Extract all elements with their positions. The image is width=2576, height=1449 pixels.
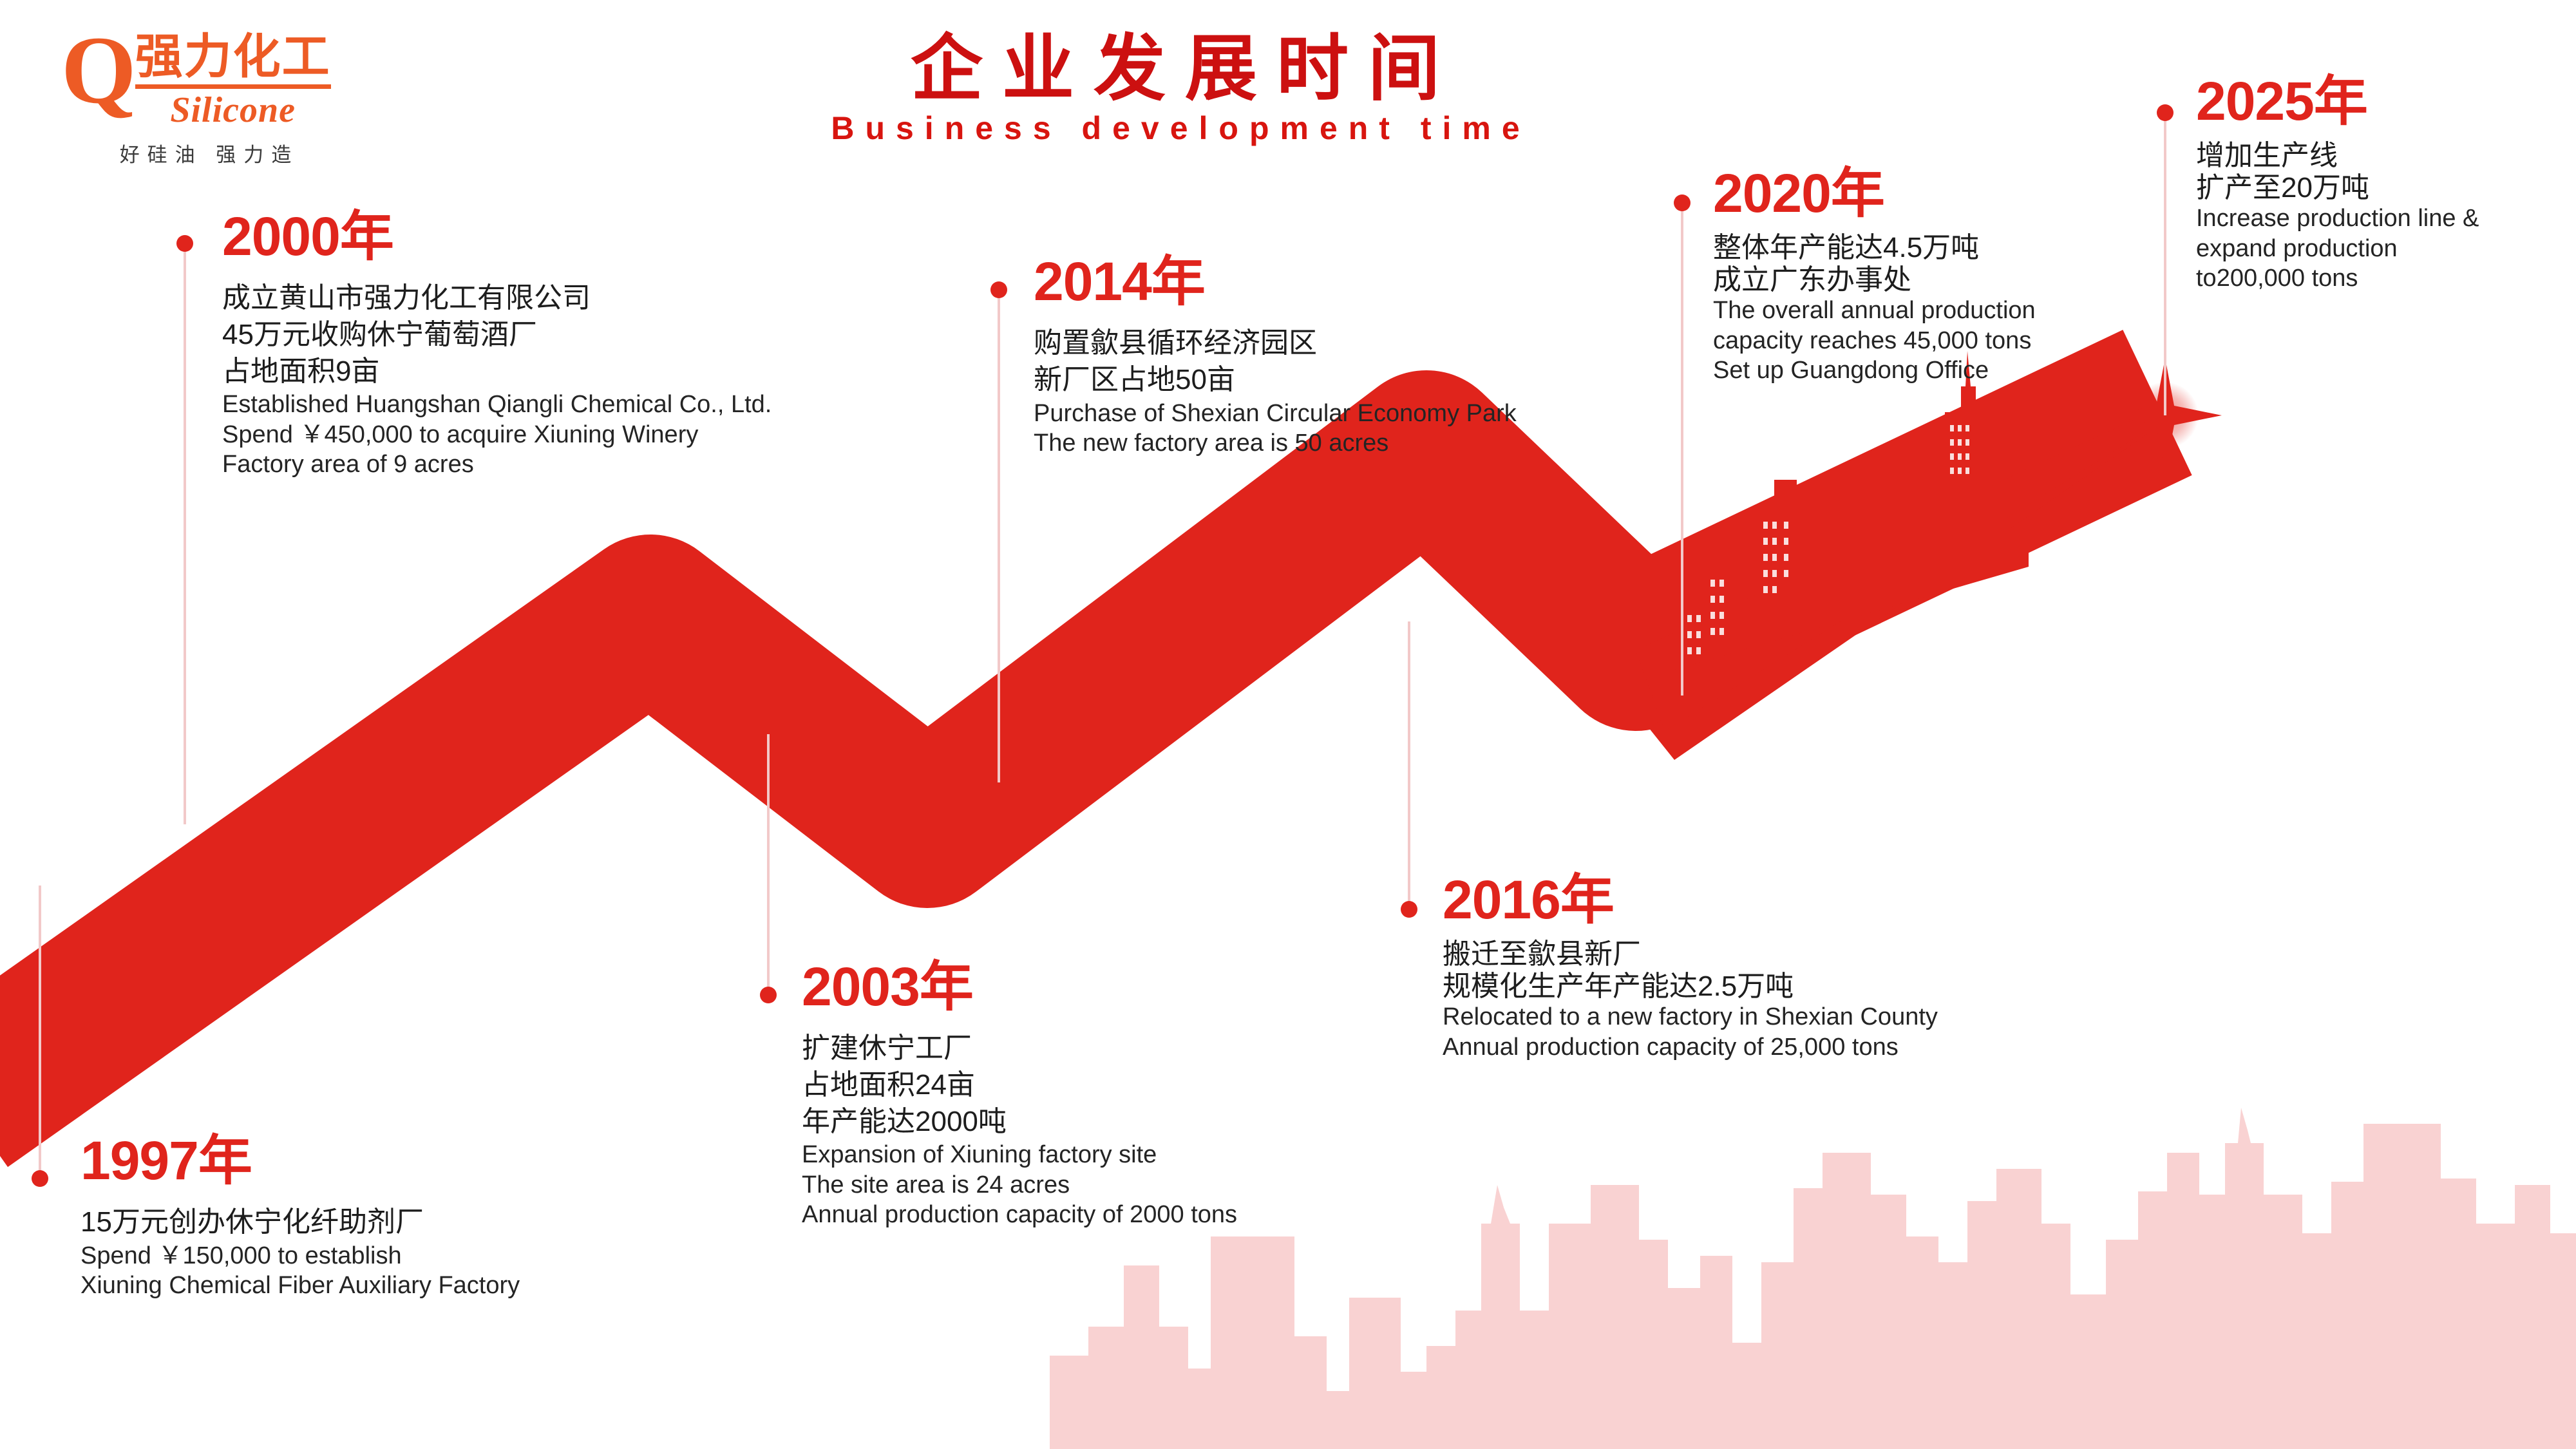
entry-en-line: Spend ￥450,000 to acquire Xiuning Winery — [222, 420, 772, 450]
timeline-entry-2016[interactable]: 2016年 搬迁至歙县新厂 规模化生产年产能达2.5万吨 Relocated t… — [1443, 873, 1938, 1062]
logo-silicone-script: Silicone — [135, 91, 331, 129]
entry-en-line: The new factory area is 50 acres — [1034, 428, 1517, 458]
entry-cn-line: 新厂区占地50亩 — [1034, 362, 1517, 399]
timeline-year-2020: 2020年 — [1713, 166, 2036, 220]
entry-cn-line: 占地面积24亩 — [802, 1067, 1237, 1104]
timeline-year-2016: 2016年 — [1443, 873, 1938, 927]
entry-en-line: Annual production capacity of 2000 tons — [802, 1200, 1237, 1229]
entry-en-line: The site area is 24 acres — [802, 1170, 1237, 1200]
entry-cn-line: 成立广东办事处 — [1713, 264, 2036, 296]
entry-en-line: Set up Guangdong Office — [1713, 355, 2036, 385]
timeline-dot-2014[interactable] — [990, 281, 1007, 298]
timeline-entry-2025[interactable]: 2025年 增加生产线 扩产至20万吨 Increase production … — [2196, 74, 2479, 294]
timeline-year-2014: 2014年 — [1034, 254, 1517, 308]
timeline-dot-2025[interactable] — [2157, 104, 2173, 121]
entry-en-line: The overall annual production — [1713, 296, 2036, 325]
entry-cn-line: 占地面积9亩 — [222, 354, 772, 390]
entry-cn-line: 成立黄山市强力化工有限公司 — [222, 280, 772, 317]
logo-company-name-cn: 强力化工 — [135, 33, 331, 89]
pink-city-skyline — [1050, 1108, 2576, 1449]
timeline-entry-2003[interactable]: 2003年 扩建休宁工厂 占地面积24亩 年产能达2000吨 Expansion… — [802, 960, 1237, 1229]
entry-cn-line: 年产能达2000吨 — [802, 1104, 1237, 1141]
entry-en-line: capacity reaches 45,000 tons — [1713, 326, 2036, 355]
entry-en-line: to200,000 tons — [2196, 263, 2479, 293]
entry-cn-line: 整体年产能达4.5万吨 — [1713, 232, 2036, 264]
entry-cn-line: 规模化生产年产能达2.5万吨 — [1443, 971, 1938, 1003]
entry-en-line: Increase production line & — [2196, 204, 2479, 233]
entry-cn-line: 扩产至20万吨 — [2196, 172, 2479, 204]
logo-tagline: 好硅油 强力造 — [61, 138, 357, 167]
entry-en-line: Annual production capacity of 25,000 ton… — [1443, 1032, 1938, 1062]
entry-en-line: Expansion of Xiuning factory site — [802, 1140, 1237, 1170]
entry-cn-line: 搬迁至歙县新厂 — [1443, 938, 1938, 971]
timeline-dot-2016[interactable] — [1401, 901, 1417, 918]
timeline-entry-1997[interactable]: 1997年 15万元创办休宁化纤助剂厂 Spend ￥150,000 to es… — [80, 1133, 520, 1300]
timeline-year-2025: 2025年 — [2196, 74, 2479, 128]
timeline-year-2003: 2003年 — [802, 960, 1237, 1014]
page-title-en: Business development time — [741, 111, 1610, 146]
timeline-year-2000: 2000年 — [222, 209, 772, 263]
logo-q-mark: Q — [61, 29, 131, 112]
company-logo: Q 强力化工 Silicone 好硅油 强力造 — [61, 29, 357, 167]
entry-cn-line: 45万元收购休宁葡萄酒厂 — [222, 317, 772, 354]
entry-cn-line: 购置歙县循环经济园区 — [1034, 325, 1517, 362]
entry-en-line: expand production — [2196, 234, 2479, 263]
entry-cn-line: 扩建休宁工厂 — [802, 1030, 1237, 1067]
entry-en-line: Factory area of 9 acres — [222, 450, 772, 479]
page-title: 企业发展时间 Business development time — [741, 31, 1610, 146]
entry-en-line: Purchase of Shexian Circular Economy Par… — [1034, 399, 1517, 428]
entry-cn-line: 增加生产线 — [2196, 140, 2479, 172]
entry-en-line: Relocated to a new factory in Shexian Co… — [1443, 1002, 1938, 1032]
entry-en-line: Xiuning Chemical Fiber Auxiliary Factory — [80, 1271, 520, 1300]
timeline-entry-2000[interactable]: 2000年 成立黄山市强力化工有限公司 45万元收购休宁葡萄酒厂 占地面积9亩 … — [222, 209, 772, 479]
timeline-year-1997: 1997年 — [80, 1133, 520, 1188]
timeline-entry-2020[interactable]: 2020年 整体年产能达4.5万吨 成立广东办事处 The overall an… — [1713, 166, 2036, 386]
timeline-dot-2000[interactable] — [176, 235, 193, 252]
timeline-dot-2020[interactable] — [1674, 194, 1690, 211]
timeline-dot-1997[interactable] — [32, 1170, 48, 1187]
page-title-cn: 企业发展时间 — [741, 31, 1610, 107]
entry-en-line: Established Huangshan Qiangli Chemical C… — [222, 390, 772, 419]
entry-cn-line: 15万元创办休宁化纤助剂厂 — [80, 1204, 520, 1241]
entry-en-line: Spend ￥150,000 to establish — [80, 1241, 520, 1271]
timeline-entry-2014[interactable]: 2014年 购置歙县循环经济园区 新厂区占地50亩 Purchase of Sh… — [1034, 254, 1517, 458]
timeline-dot-2003[interactable] — [760, 987, 777, 1003]
infographic-canvas: Q 强力化工 Silicone 好硅油 强力造 企业发展时间 Business … — [0, 0, 2576, 1449]
